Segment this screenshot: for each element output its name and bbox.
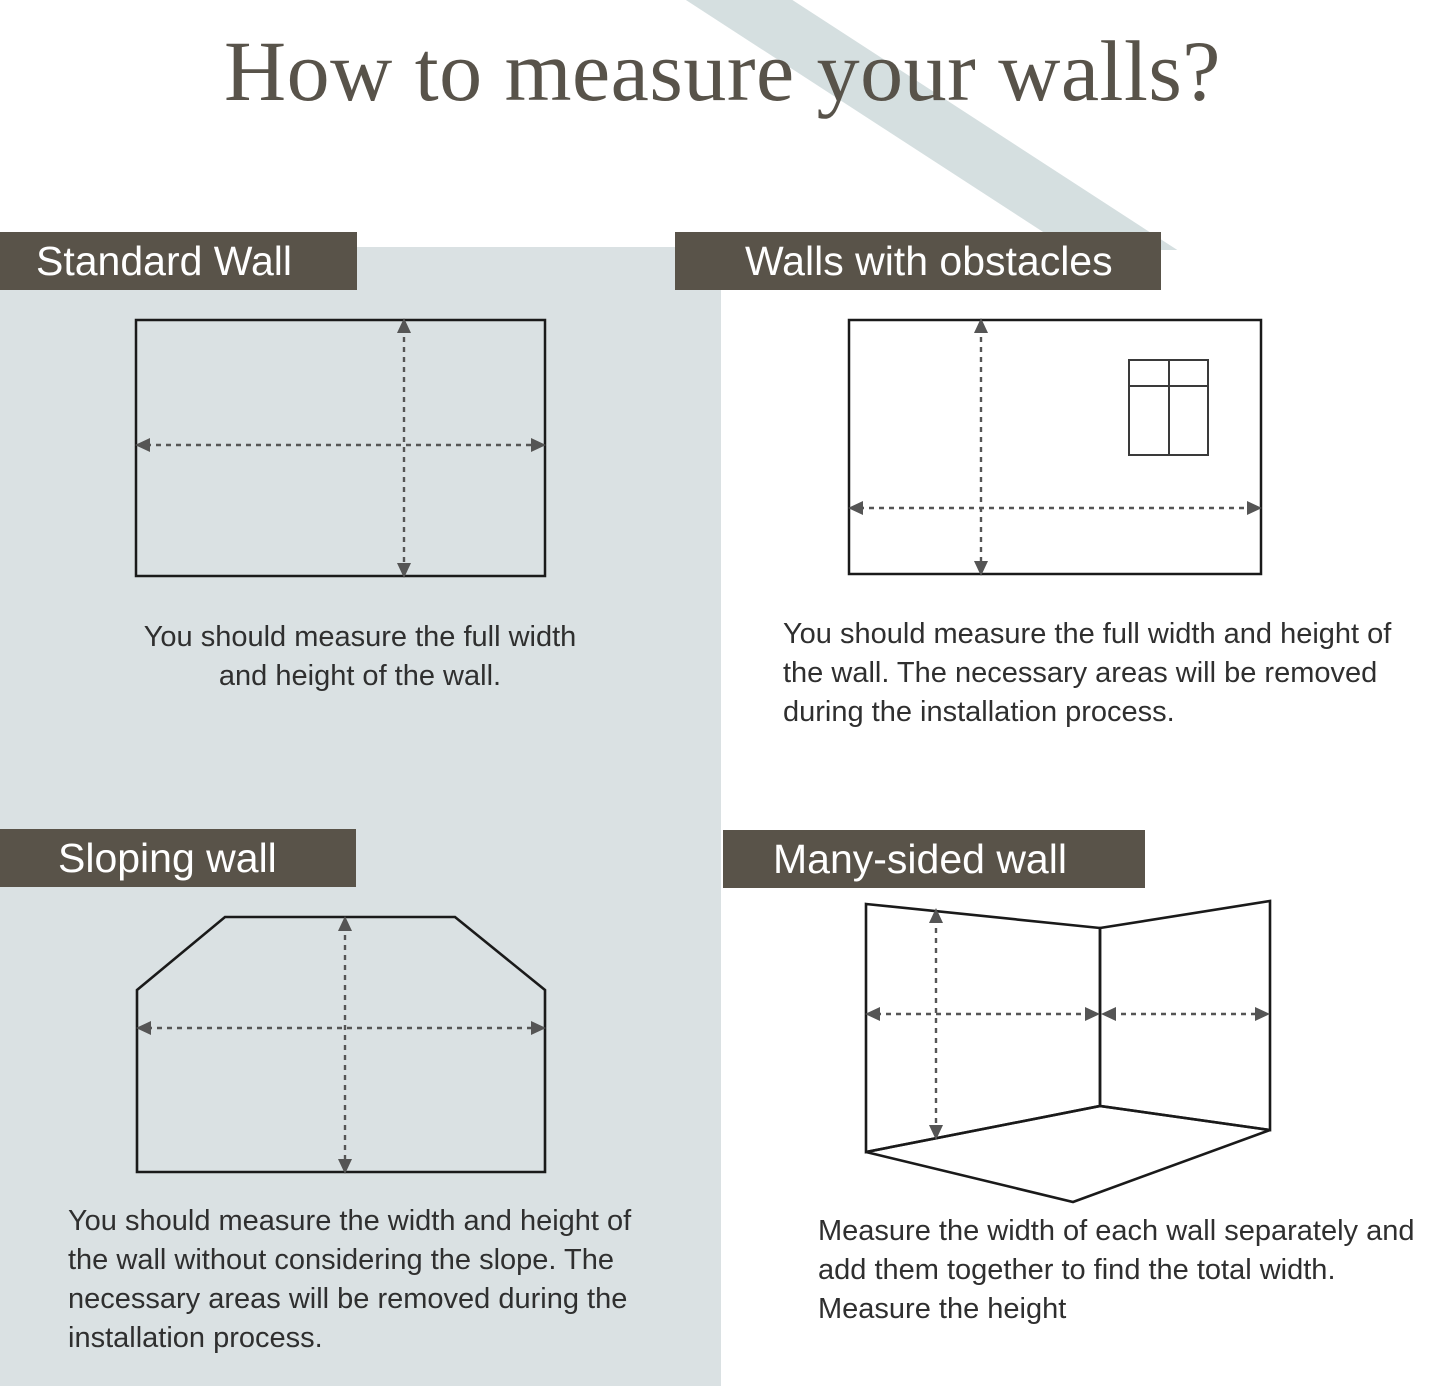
- section-heading-walls-with-obstacles: Walls with obstacles: [675, 232, 1161, 290]
- obstacle-wall-svg: [835, 305, 1285, 605]
- caption-standard-line-2: and height of the wall.: [60, 657, 660, 696]
- section-heading-sloping-wall: Sloping wall: [0, 829, 356, 887]
- sloping-wall-svg: [120, 900, 570, 1200]
- left-width-arrowhead-right-icon: [1085, 1007, 1100, 1021]
- right-width-arrowhead-left-icon: [1101, 1007, 1116, 1021]
- right-wall-face: [1100, 901, 1270, 1130]
- sloping-wall-diagram: [120, 900, 570, 1200]
- page-title: How to measure your walls?: [0, 28, 1445, 114]
- wall-with-window-diagram: [835, 305, 1285, 605]
- caption-standard-wall: You should measure the full width and he…: [60, 618, 660, 696]
- standard-wall-svg: [120, 305, 560, 605]
- left-wall-face: [866, 904, 1100, 1152]
- right-width-arrowhead-right-icon: [1255, 1007, 1270, 1021]
- infographic-page: How to measure your walls? Standard Wall…: [0, 0, 1445, 1386]
- caption-standard-line-1: You should measure the full width: [60, 618, 660, 657]
- sloping-wall-outline: [137, 917, 545, 1172]
- section-heading-many-sided-wall: Many-sided wall: [723, 830, 1145, 888]
- floor-face: [866, 1106, 1270, 1202]
- standard-wall-diagram: [120, 305, 560, 605]
- caption-walls-with-obstacles: You should measure the full width and he…: [783, 615, 1423, 732]
- corner-room-svg: [845, 890, 1295, 1220]
- section-heading-standard-wall: Standard Wall: [0, 232, 357, 290]
- caption-sloping-wall: You should measure the width and height …: [68, 1202, 668, 1359]
- wall-outline-rect: [136, 320, 545, 576]
- corner-room-diagram: [845, 890, 1295, 1220]
- caption-many-sided-wall: Measure the width of each wall separatel…: [818, 1212, 1428, 1329]
